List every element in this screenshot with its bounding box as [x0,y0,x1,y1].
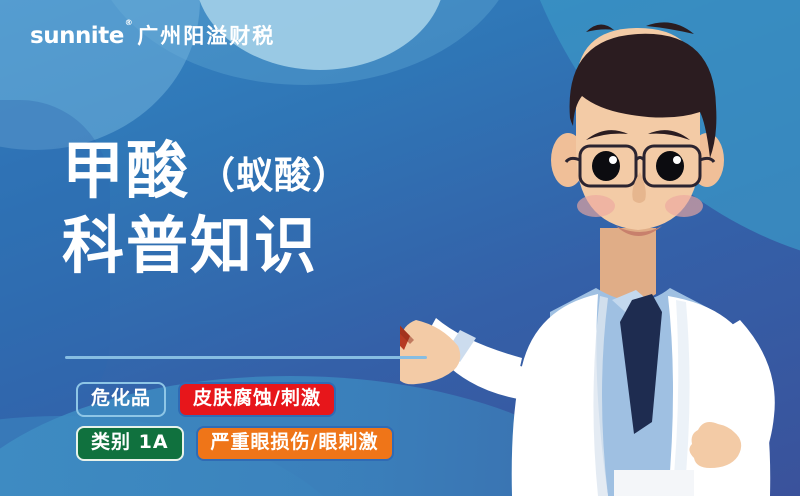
trousers-shape [614,470,694,496]
title-line-2: 科普知识 [62,215,350,277]
badge-category-1a[interactable]: 类别 1A [76,426,184,461]
logo-company-name-cn: 广州阳溢财税 [137,20,275,50]
illustration-scientist [400,0,800,496]
badge-skin-corrosion[interactable]: 皮肤腐蚀/刺激 [178,382,336,417]
page-title: 甲酸 （蚁酸） 科普知识 [62,140,350,277]
badge-hazardous-chemical[interactable]: 危化品 [76,382,166,417]
eye-highlight-left [609,156,617,164]
eye-left [592,151,620,181]
logo-wordmark: sunnite® [30,23,131,49]
title-line-1: 甲酸 （蚁酸） [62,140,350,203]
blush-left [577,195,615,217]
title-main-term: 甲酸 [62,140,190,202]
poster-canvas: sunnite® 广州阳溢财税 甲酸 （蚁酸） 科普知识 危化品 皮肤腐蚀/刺激… [0,0,800,496]
hazard-badge-group: 危化品 皮肤腐蚀/刺激 类别 1A 严重眼损伤/眼刺激 [76,382,394,461]
eye-highlight-right [673,156,681,164]
registered-trademark-icon: ® [125,18,133,27]
badge-serious-eye-damage[interactable]: 严重眼损伤/眼刺激 [196,426,394,461]
blush-right [665,195,703,217]
brand-logo[interactable]: sunnite® 广州阳溢财税 [30,20,275,50]
logo-wordmark-text: sunnite [30,23,124,49]
badge-row-1: 危化品 皮肤腐蚀/刺激 [76,382,394,417]
title-alias-term: （蚁酸） [198,145,350,199]
neck-shape [600,228,656,303]
hair-tuft [586,24,614,32]
badge-row-2: 类别 1A 严重眼损伤/眼刺激 [76,426,394,461]
eye-right [656,151,684,181]
title-divider [65,356,427,359]
